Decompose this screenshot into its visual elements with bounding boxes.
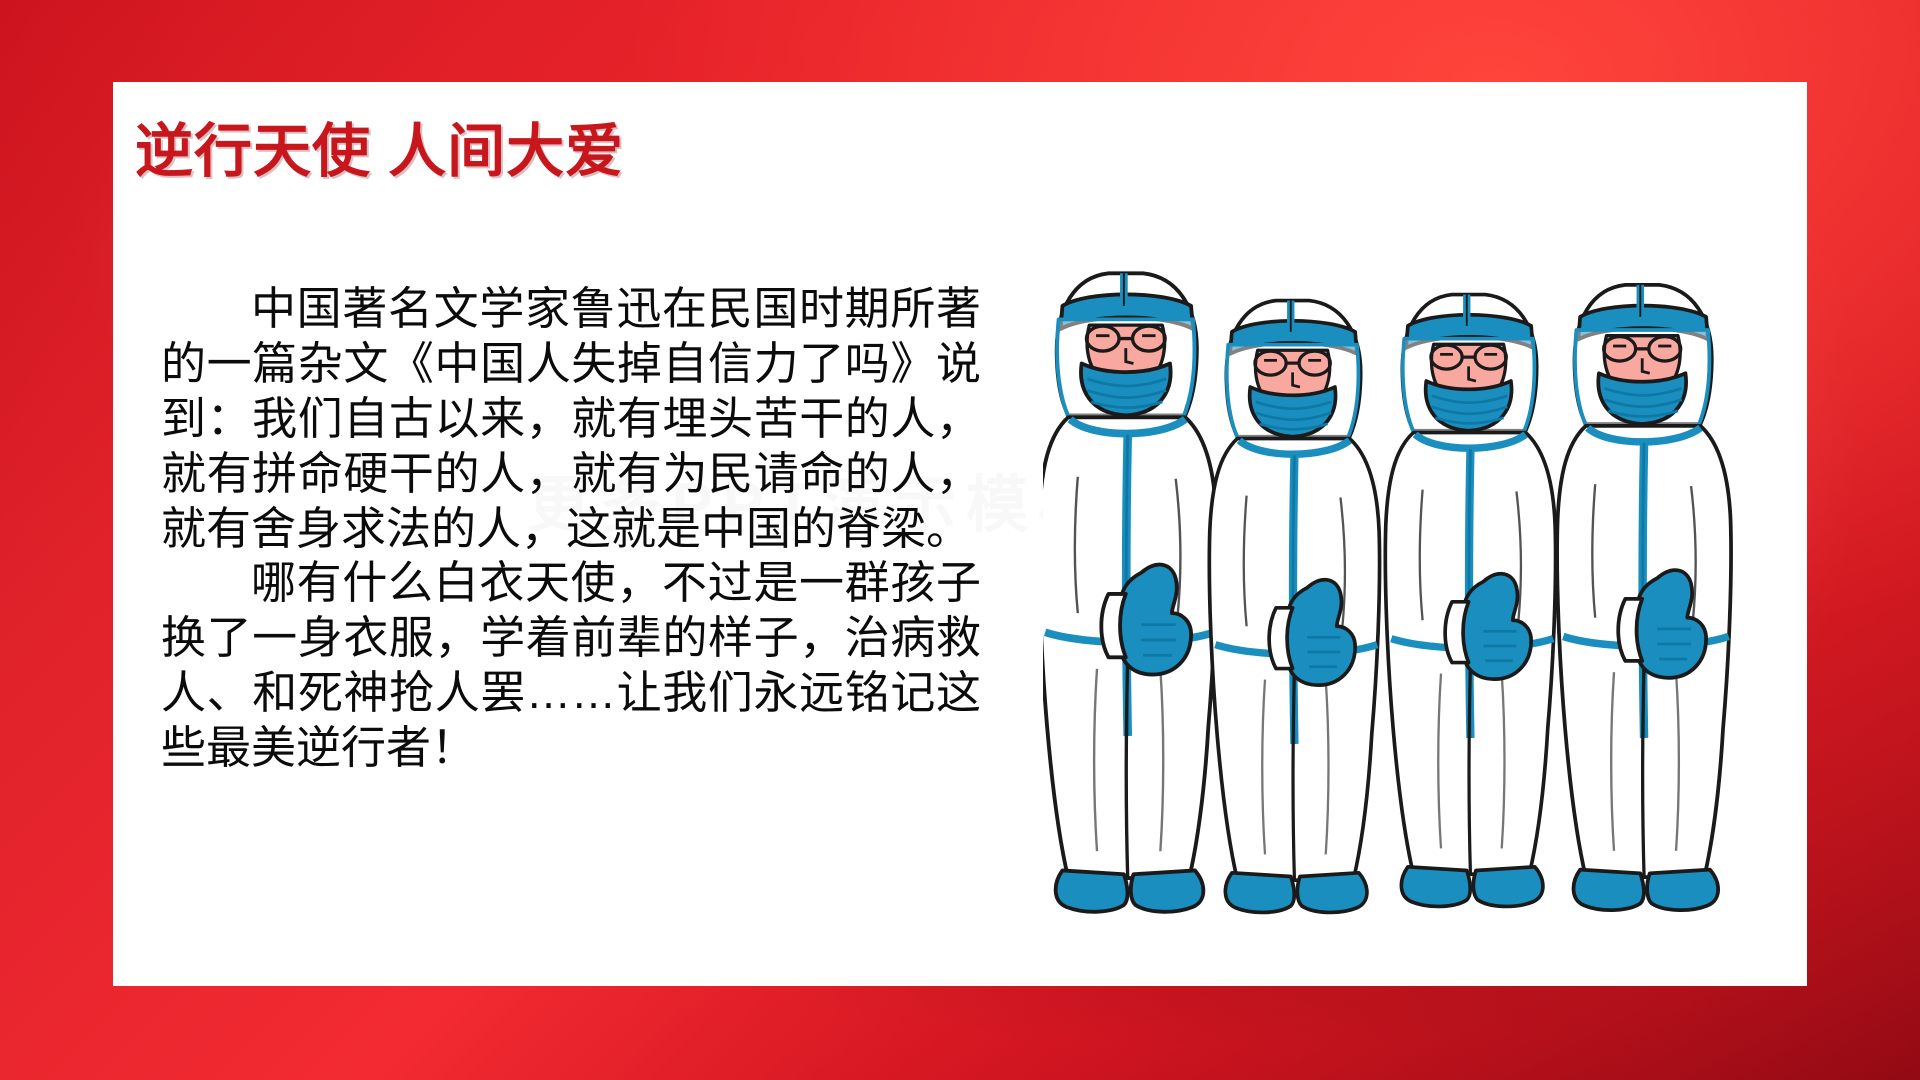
medical-workers-illustration	[1043, 232, 1773, 922]
content-card: 更多PPT演示模板请上 "安 逆行天使 人间大爱 中国著名文学家鲁迅在民国时期所…	[113, 82, 1807, 986]
body-text-column: 中国著名文学家鲁迅在民国时期所著的一篇杂文《中国人失掉自信力了吗》说到：我们自古…	[161, 282, 981, 776]
slide-root: 更多PPT演示模板请上 "安 逆行天使 人间大爱 中国著名文学家鲁迅在民国时期所…	[0, 0, 1920, 1080]
body-paragraph-1: 中国著名文学家鲁迅在民国时期所著的一篇杂文《中国人失掉自信力了吗》说到：我们自古…	[161, 282, 981, 556]
page-title: 逆行天使 人间大爱	[135, 104, 624, 188]
body-paragraph-2: 哪有什么白衣天使，不过是一群孩子换了一身衣服，学着前辈的样子，治病救人、和死神抢…	[161, 556, 981, 776]
